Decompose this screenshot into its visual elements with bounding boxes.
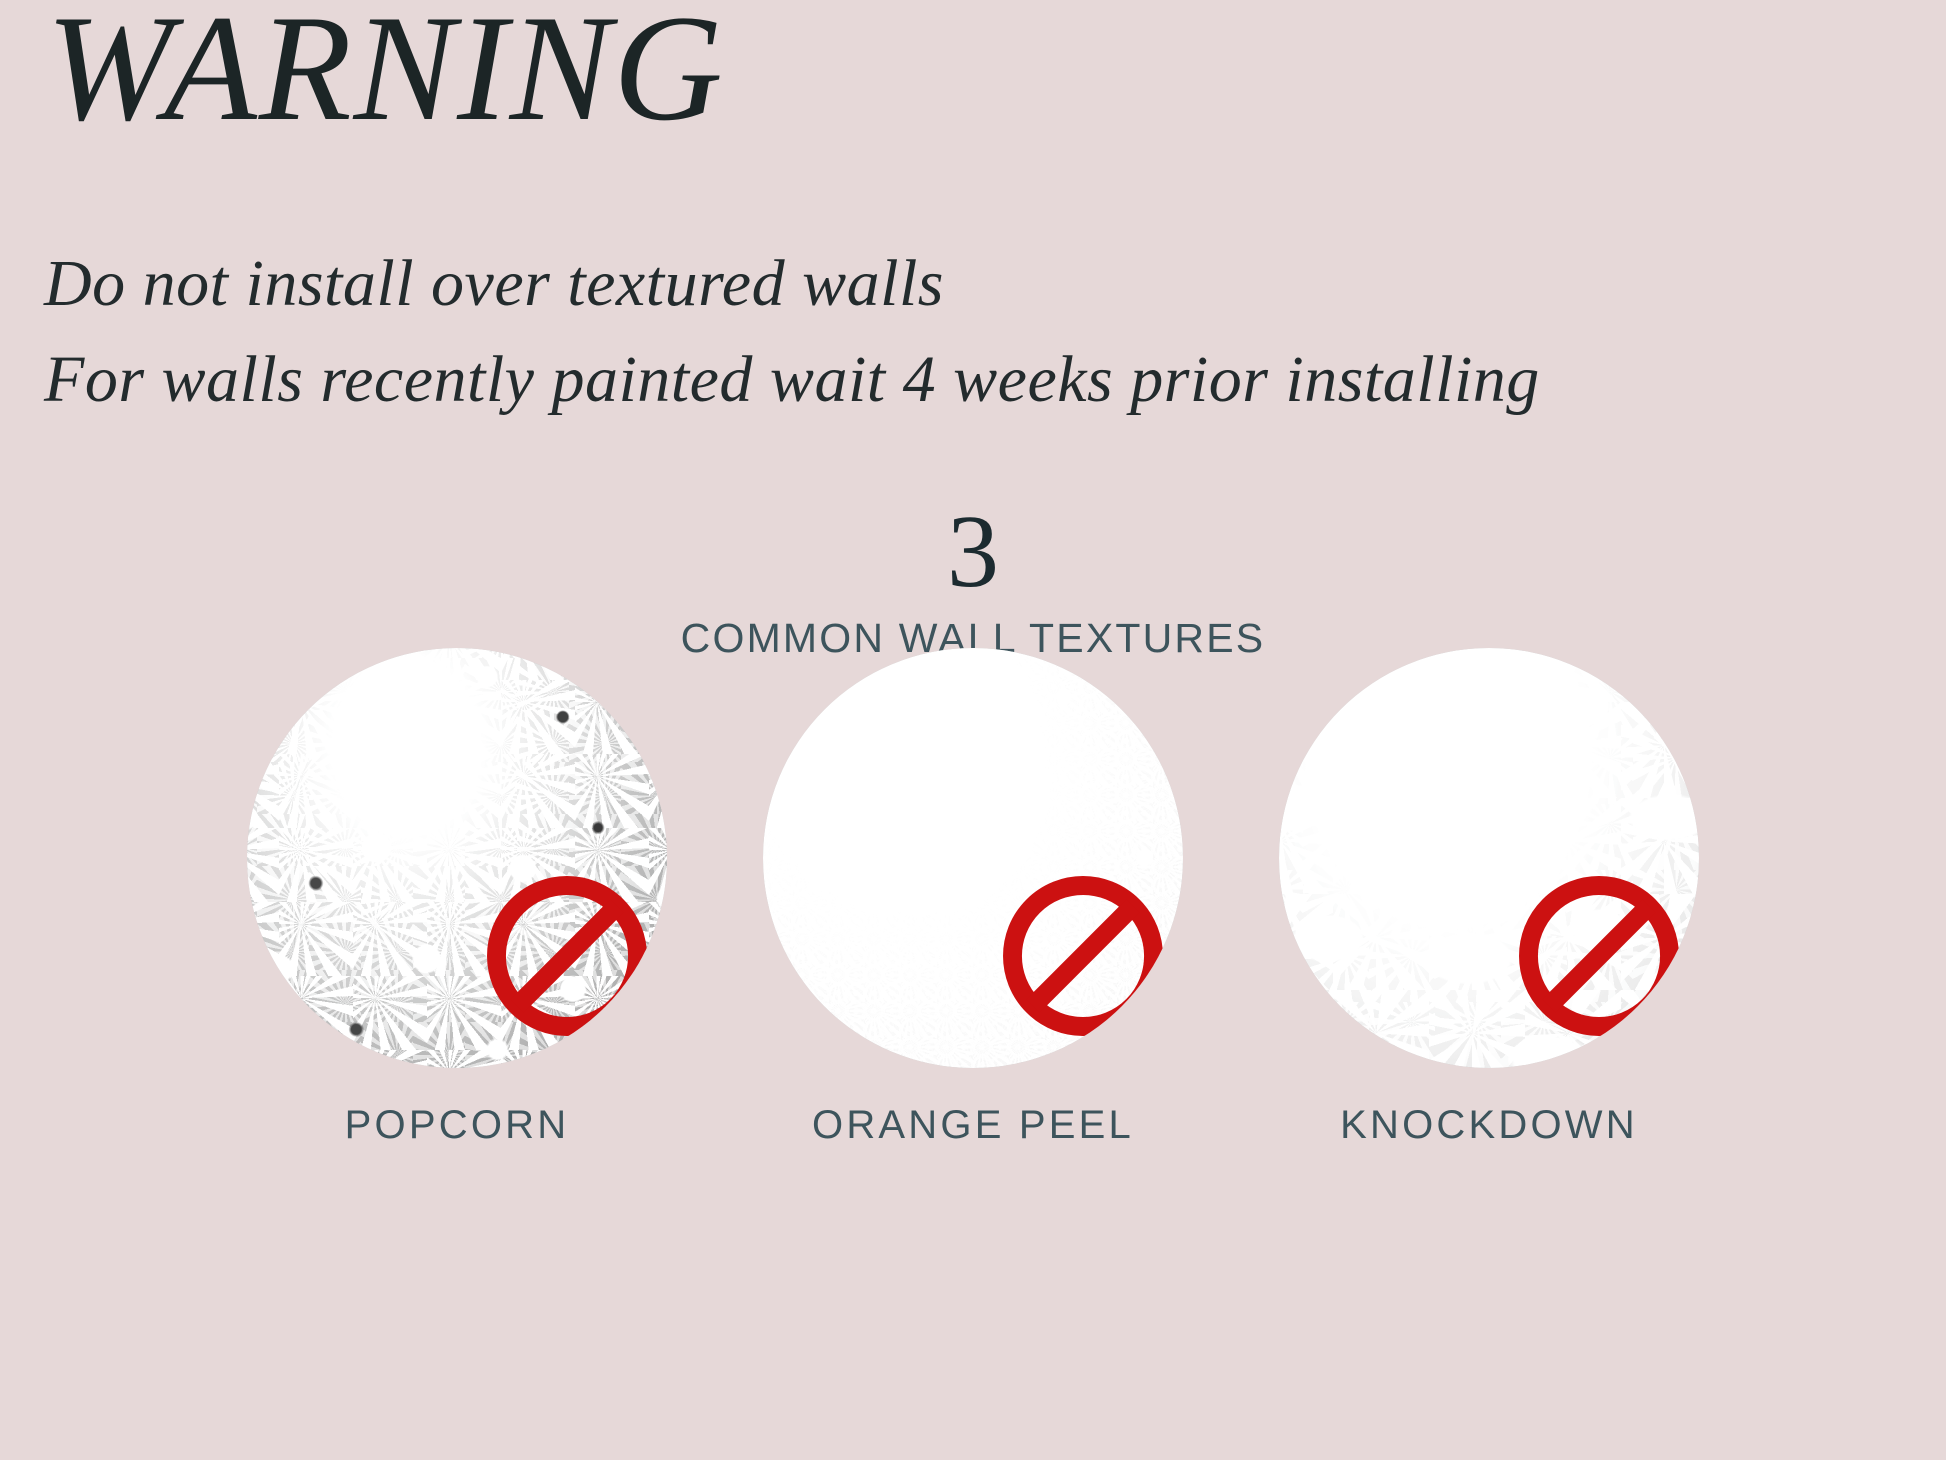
instruction-list: Do not install over textured walls For w…	[44, 236, 1914, 428]
texture-label-popcorn: POPCORN	[345, 1102, 570, 1148]
texture-item-orange-peel: ORANGE PEEL	[763, 648, 1183, 1148]
knockdown-texture-fill	[1279, 648, 1699, 1068]
warning-poster: WARNING Do not install over textured wal…	[0, 0, 1946, 1460]
popcorn-texture-fill	[247, 648, 667, 1068]
orange-peel-texture-fill	[763, 648, 1183, 1068]
orange-peel-texture-swatch	[763, 648, 1183, 1068]
texture-label-orange-peel: ORANGE PEEL	[812, 1102, 1134, 1148]
texture-item-knockdown: KNOCKDOWN	[1279, 648, 1699, 1148]
knockdown-texture-swatch	[1279, 648, 1699, 1068]
texture-item-popcorn: POPCORN	[247, 648, 667, 1148]
texture-swatch-row: POPCORN ORANGE PEEL	[0, 648, 1946, 1460]
texture-label-knockdown: KNOCKDOWN	[1340, 1102, 1638, 1148]
popcorn-texture-swatch	[247, 648, 667, 1068]
page-title: WARNING	[46, 0, 725, 144]
section-heading: 3 COMMON WALL TEXTURES	[0, 500, 1946, 662]
texture-count-number: 3	[0, 500, 1946, 604]
instruction-line-2: For walls recently painted wait 4 weeks …	[44, 332, 1914, 428]
instruction-line-1: Do not install over textured walls	[44, 236, 1914, 332]
